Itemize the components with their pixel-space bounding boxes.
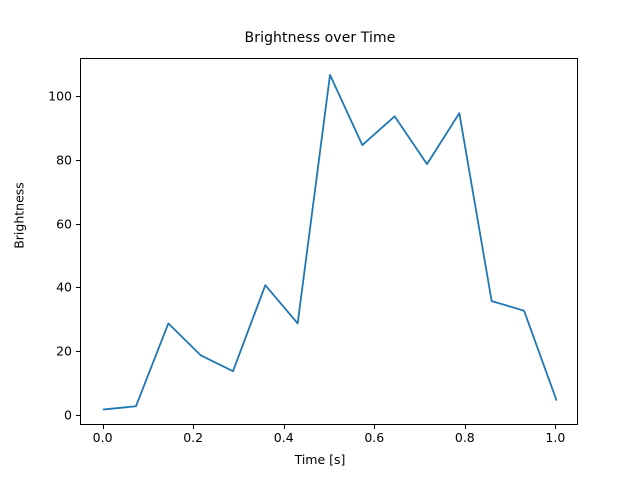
brightness-line [104, 75, 557, 410]
x-tick-label: 0.8 [455, 430, 475, 445]
x-tick-label: 0.2 [183, 430, 203, 445]
matplotlib-figure: Brightness over Time 020406080100 0.00.2… [0, 0, 640, 480]
plot-area [80, 58, 578, 425]
x-tick-label: 0.4 [274, 430, 294, 445]
y-tick-label: 60 [56, 216, 72, 231]
x-tick-label: 0.6 [364, 430, 384, 445]
y-tick-label: 0 [64, 407, 72, 422]
x-tick-label: 0.0 [93, 430, 113, 445]
x-tick-label: 1.0 [545, 430, 565, 445]
y-tick-label: 80 [56, 152, 72, 167]
x-axis-label: Time [s] [0, 452, 640, 467]
chart-title: Brightness over Time [0, 30, 640, 46]
y-axis-label: Brightness [12, 136, 27, 296]
y-tick-label: 40 [56, 280, 72, 295]
y-tick-label: 100 [48, 89, 72, 104]
y-tick-label: 20 [56, 344, 72, 359]
line-series-svg [81, 59, 579, 426]
